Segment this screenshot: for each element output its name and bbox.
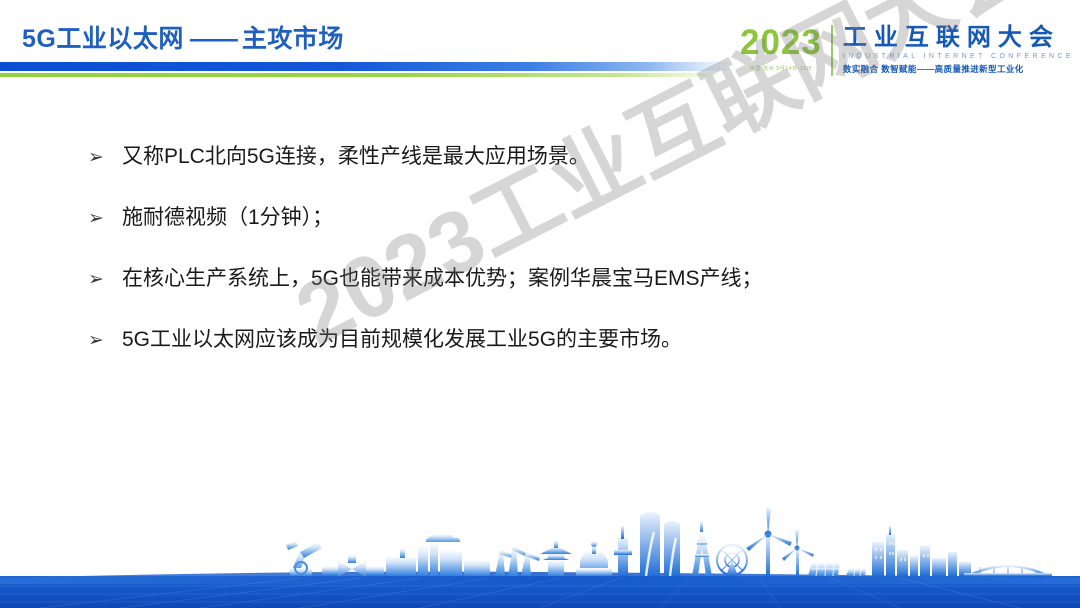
logo-event-meta: 中国·苏州 9月14日-15日	[750, 65, 813, 72]
header-divider-green	[0, 73, 730, 77]
ferris-wheel-icon	[717, 545, 747, 576]
eiffel-tower-icon	[692, 520, 712, 576]
robot-arm-icon	[286, 541, 322, 576]
cranes-icon	[495, 546, 540, 576]
tower-icon	[614, 526, 632, 576]
page-title: 5G工业以太网——主攻市场	[22, 19, 344, 55]
bullet-arrow-icon: ➢	[88, 141, 122, 175]
bullet-arrow-icon: ➢	[88, 263, 122, 297]
logo-year: 2023	[740, 24, 822, 62]
title-main-text: 5G工业以太网	[22, 25, 184, 53]
list-item: ➢ 施耐德视频（1分钟）；	[88, 201, 1020, 236]
list-item-label: 又称PLC北向5G连接，柔性产线是最大应用场景。	[122, 140, 590, 174]
pagoda-icon	[540, 540, 572, 576]
list-item: ➢ 又称PLC北向5G连接，柔性产线是最大应用场景。	[88, 140, 1020, 175]
wind-turbine-icon	[782, 530, 814, 576]
logo-name-block: 工业互联网大会 INDUSTRIAL INTERNET CONFERENCE 数…	[833, 24, 1074, 75]
logo-year-block: 2023 中国·苏州 9月14日-15日	[740, 24, 831, 72]
list-item: ➢ 5G工业以太网应该成为目前规模化发展工业5G的主要市场。	[88, 323, 1020, 358]
list-item: ➢ 在核心生产系统上，5G也能带来成本优势；案例华晨宝马EMS产线；	[88, 262, 1020, 297]
logo-name-cn: 工业互联网大会	[843, 24, 1074, 51]
bullet-arrow-icon: ➢	[88, 324, 122, 358]
logo-tagline: 数实融合 数智赋能——高质量推进新型工业化	[843, 63, 1074, 75]
city-buildings-icon	[872, 526, 971, 576]
footer-skyline-graphic	[0, 498, 1080, 608]
list-item-label: 在核心生产系统上，5G也能带来成本优势；案例华晨宝马EMS产线；	[122, 262, 763, 296]
factory-icon	[386, 533, 490, 576]
logo-name-en: INDUSTRIAL INTERNET CONFERENCE	[843, 53, 1074, 60]
header-divider-blue	[0, 62, 736, 71]
title-dash: ——	[184, 25, 242, 53]
twin-towers-icon	[640, 512, 680, 576]
list-item-label: 施耐德视频（1分钟）；	[122, 201, 333, 235]
title-sub-text: 主攻市场	[242, 25, 344, 53]
wind-turbine-icon	[746, 508, 792, 576]
bullet-list: ➢ 又称PLC北向5G连接，柔性产线是最大应用场景。 ➢ 施耐德视频（1分钟）；…	[88, 140, 1020, 384]
conference-logo: 2023 中国·苏州 9月14日-15日 工业互联网大会 INDUSTRIAL …	[740, 24, 1074, 80]
list-item-label: 5G工业以太网应该成为目前规模化发展工业5G的主要市场。	[122, 323, 682, 357]
presentation-slide: 5G工业以太网——主攻市场 2023 中国·苏州 9月14日-15日 工业互联网…	[0, 0, 1080, 608]
temple-icon	[576, 541, 612, 576]
bullet-arrow-icon: ➢	[88, 202, 122, 236]
bridge-icon	[964, 565, 1052, 576]
solar-panels-icon	[808, 562, 866, 576]
